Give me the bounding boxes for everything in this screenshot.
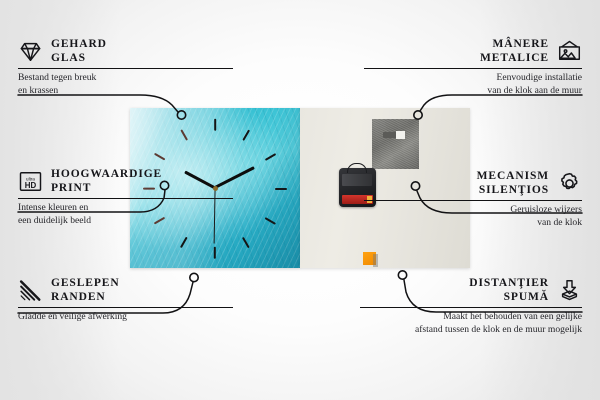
feature-title: GESLEPENRANDEN: [51, 277, 120, 304]
feature-title: GEHARDGLAS: [51, 38, 107, 65]
clock-tick: [242, 130, 249, 141]
feature-desc: Gladde en veilige afwerking: [18, 308, 233, 323]
feature-metal-handles: MÂNEREMETALICE Eenvoudige installatievan…: [364, 38, 582, 97]
clock-tick: [154, 153, 165, 160]
clock-tick: [180, 130, 187, 141]
hanger-slot: [383, 132, 405, 138]
feature-desc: Bestand tegen breuken krassen: [18, 69, 233, 97]
press-down-icon: [557, 278, 582, 303]
svg-text:HD: HD: [25, 181, 37, 190]
feature-high-quality-print: ultra HD HOOGWAARDIGEPRINT Intense kleur…: [18, 168, 233, 227]
feature-desc: Eenvoudige installatievan de klok aan de…: [364, 69, 582, 97]
picture-frame-icon: [557, 39, 582, 64]
feature-head: ultra HD HOOGWAARDIGEPRINT: [18, 168, 233, 198]
feature-head: GEHARDGLAS: [18, 38, 233, 68]
feature-ground-edges: GESLEPENRANDEN Gladde en veilige afwerki…: [18, 277, 233, 324]
feature-tempered-glass: GEHARDGLAS Bestand tegen breuken krassen: [18, 38, 233, 97]
infographic-canvas: GEHARDGLAS Bestand tegen breuken krassen…: [0, 0, 600, 400]
feature-desc: Intense kleuren eneen duidelijk beeld: [18, 199, 233, 227]
diagonal-lines-icon: [18, 278, 43, 303]
clock-tick: [275, 188, 287, 190]
clock-tick: [180, 237, 187, 248]
clock-tick: [214, 247, 216, 259]
gear-icon: [557, 171, 582, 196]
feature-silent-mechanism: MECANISMSILENŢIOS Geruisloze wijzersvan …: [364, 170, 582, 229]
ultra-hd-icon: ultra HD: [18, 169, 43, 194]
feature-desc: Geruisloze wijzersvan de klok: [364, 201, 582, 229]
clock-tick: [265, 217, 276, 224]
foam-spacer: [363, 252, 376, 265]
feature-foam-spacer: DISTANŢIERSPUMĂ Maakt het behouden van e…: [360, 277, 582, 336]
clock-tick: [242, 237, 249, 248]
feature-title: MÂNEREMETALICE: [480, 38, 549, 65]
feature-title: HOOGWAARDIGEPRINT: [51, 168, 162, 195]
feature-head: MECANISMSILENŢIOS: [364, 170, 582, 200]
feature-head: MÂNEREMETALICE: [364, 38, 582, 68]
feature-title: DISTANŢIERSPUMĂ: [469, 277, 549, 304]
diamond-icon: [18, 39, 43, 64]
feature-desc: Maakt het behouden van een gelijkeafstan…: [360, 308, 582, 336]
feature-head: DISTANŢIERSPUMĂ: [360, 277, 582, 307]
clock-tick: [265, 153, 276, 160]
feature-head: GESLEPENRANDEN: [18, 277, 233, 307]
feature-title: MECANISMSILENŢIOS: [477, 170, 549, 197]
clock-tick: [214, 119, 216, 131]
metal-hanger-icon: [372, 119, 419, 169]
